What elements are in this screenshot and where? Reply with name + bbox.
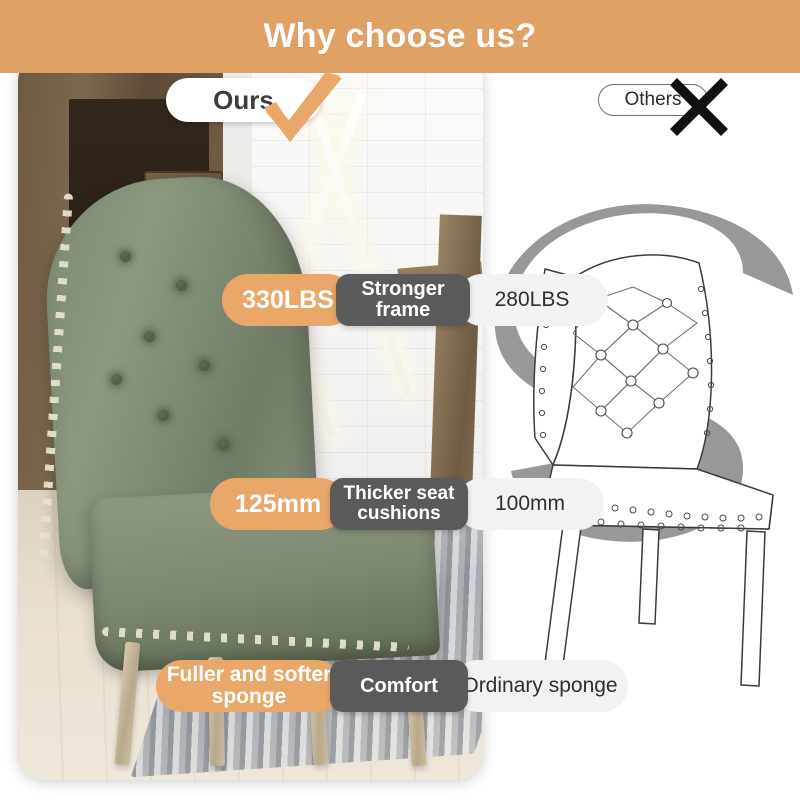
ours-label-badge: Ours [166,78,321,122]
ours-value-cell: 125mm [210,478,346,530]
others-value-cell: Ordinary sponge [452,660,628,712]
feature-label-cell: Comfort [330,660,468,712]
ours-value-cell: Fuller and softer sponge [156,660,342,712]
tuft-button [176,280,187,291]
tuft-button [111,374,122,385]
tuft-button [199,360,210,371]
page-title: Why choose us? [0,0,800,73]
others-value-cell: 100mm [456,478,604,530]
feature-label-cell: Stronger frame [336,274,470,326]
x-icon [668,76,730,138]
ours-value-cell: 330LBS [222,274,354,326]
others-value-cell: 280LBS [456,274,608,326]
tuft-button [144,331,155,342]
feature-label-cell: Thicker seat cushions [330,478,468,530]
tuft-button [158,410,169,421]
comparison-infographic: Why choose us? Ours Others 280LBS 330LBS… [0,0,800,800]
tuft-button [120,251,131,262]
